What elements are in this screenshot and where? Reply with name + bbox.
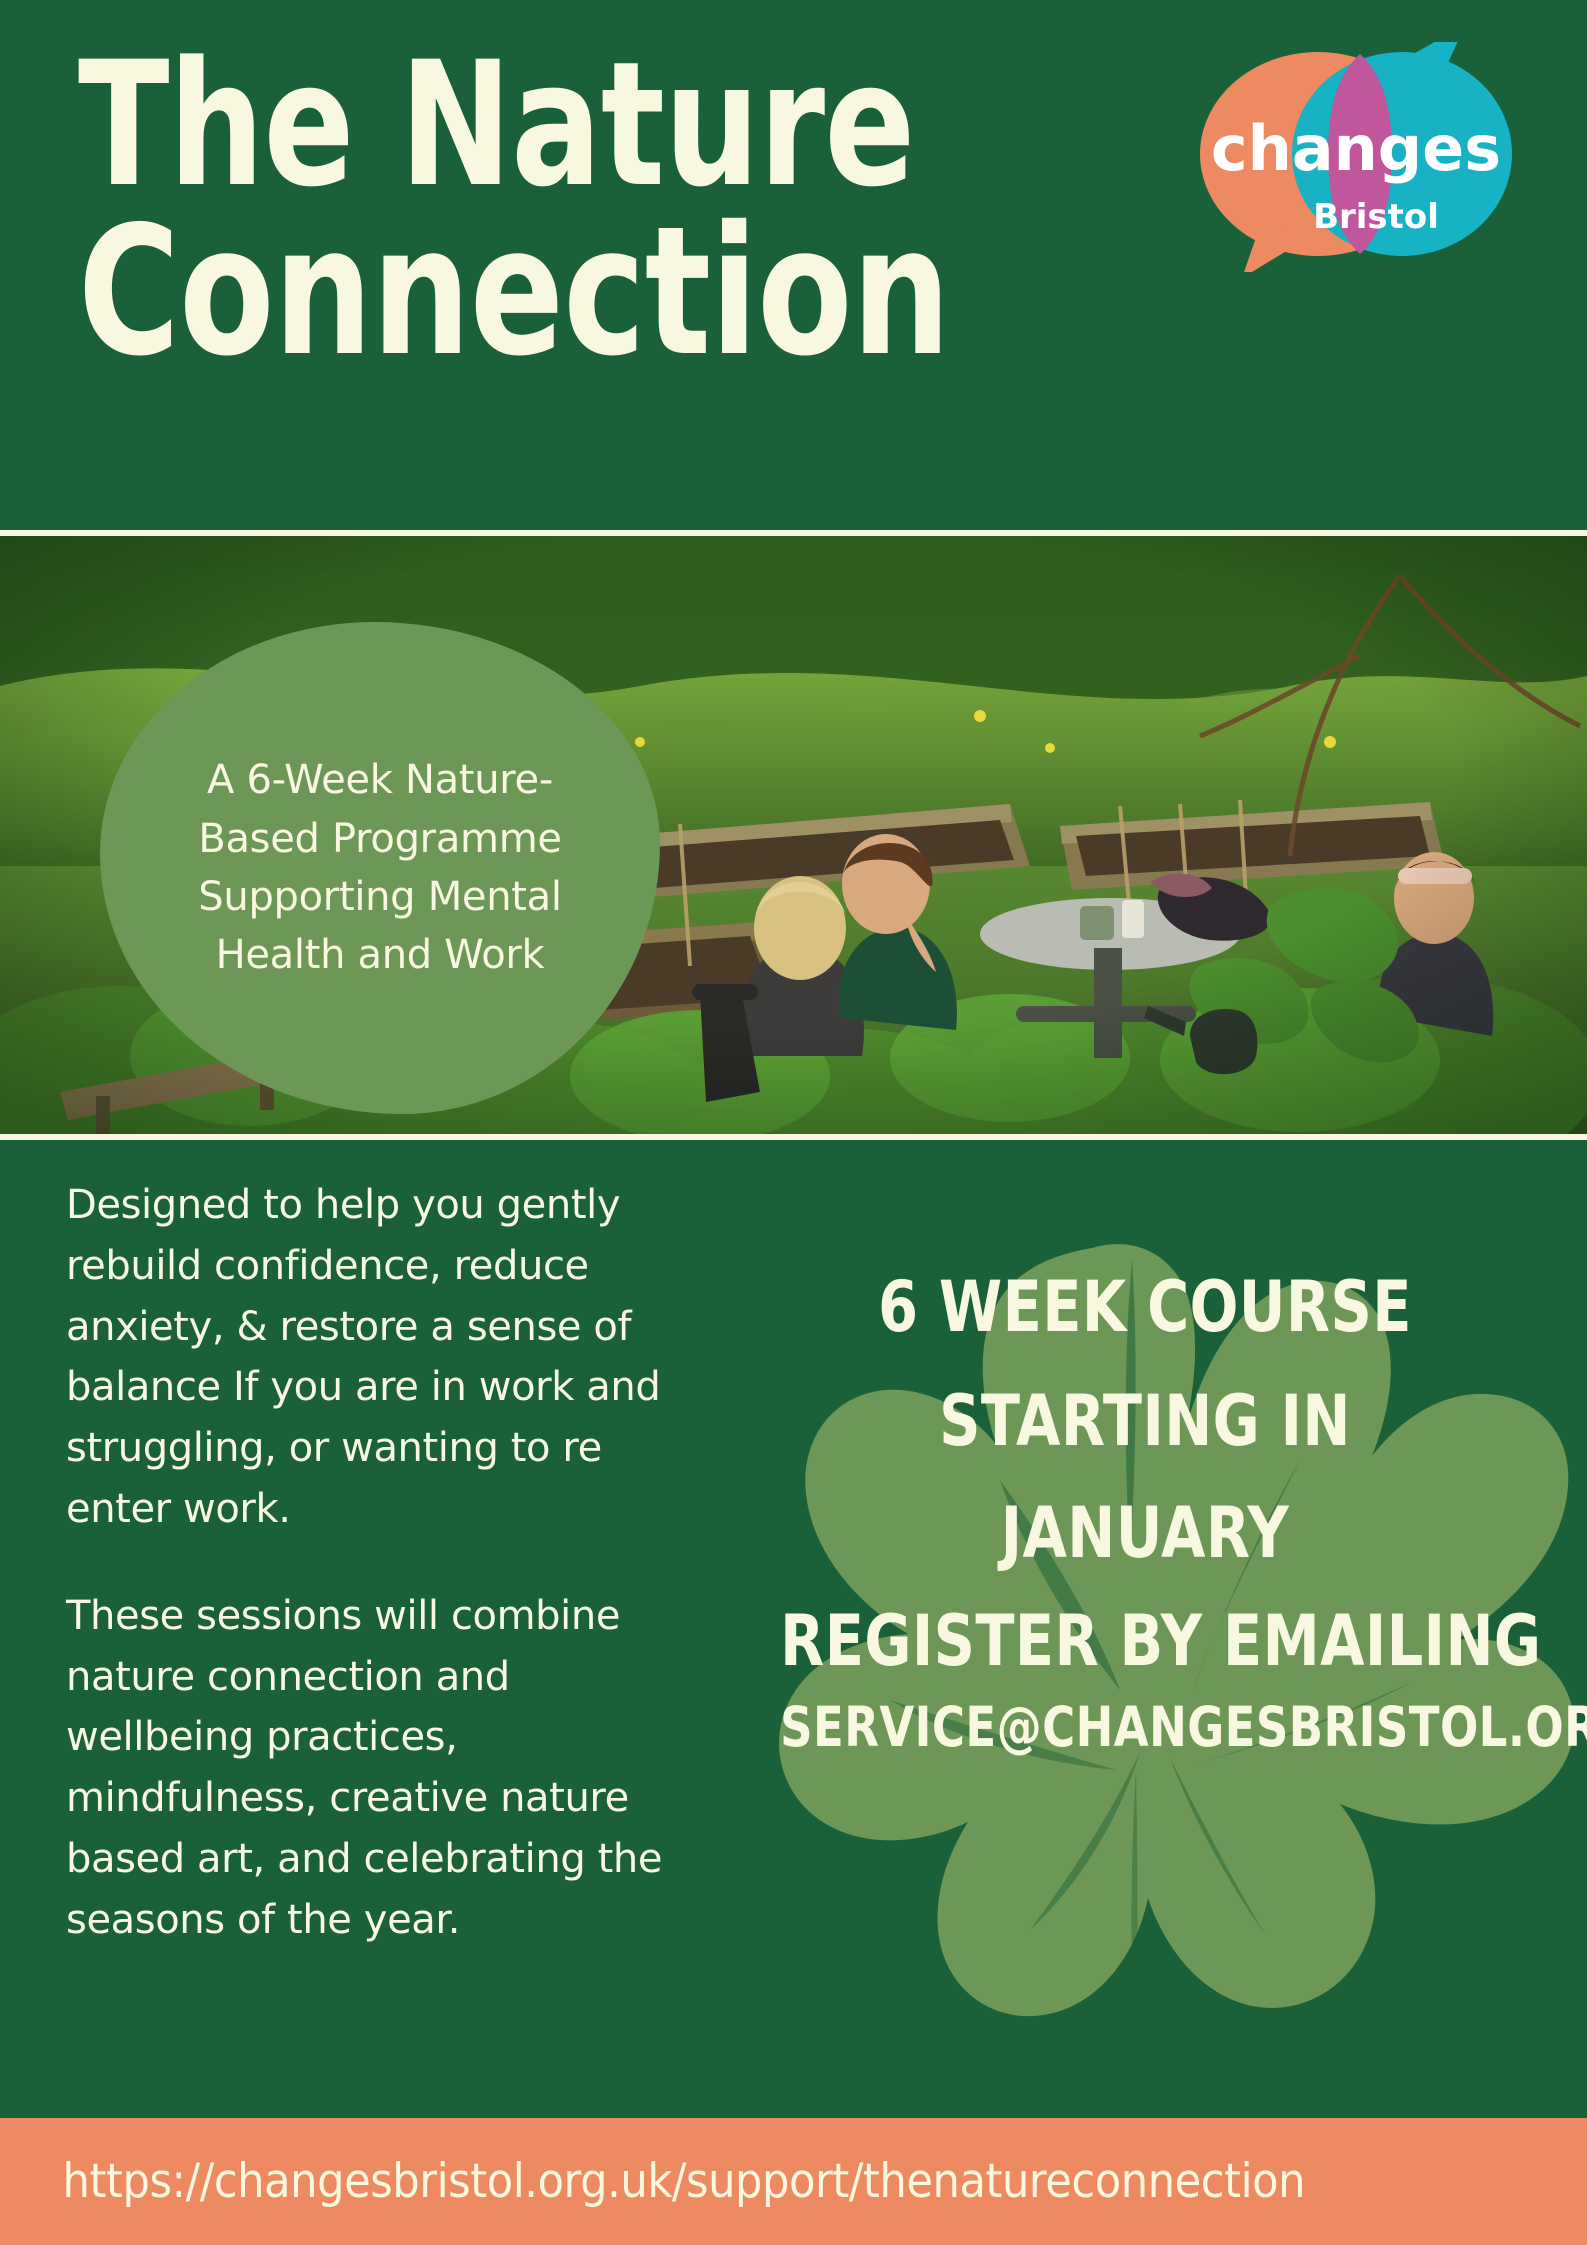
course-promo: 6 WEEK COURSE STARTING IN JANUARY REGIST… [700, 1272, 1587, 1755]
poster-header: The Nature Connection changes Bristol [0, 0, 1587, 518]
poster-title: The Nature Connection [78, 46, 1228, 374]
logo-subtitle: Bristol [1313, 197, 1439, 237]
title-line-1: The Nature [78, 46, 975, 204]
promo-line-4: REGISTER BY EMAILING [780, 1606, 1510, 1676]
footer-bar: https://changesbristol.org.uk/support/th… [0, 2118, 1587, 2245]
logo-wordmark: changes [1211, 112, 1501, 185]
promo-line-3: JANUARY [780, 1498, 1510, 1568]
body-paragraph-2: These sessions will combine nature conne… [66, 1586, 706, 1951]
changes-bristol-logo: changes Bristol [1190, 42, 1520, 272]
photo-band: A 6-Week Nature-Based Programme Supporti… [0, 530, 1587, 1140]
footer-url-link[interactable]: https://changesbristol.org.uk/support/th… [0, 2154, 1305, 2209]
body-copy: Designed to help you gently rebuild conf… [66, 1175, 706, 1997]
poster-root: The Nature Connection changes Bristol [0, 0, 1587, 2245]
programme-callout-text: A 6-Week Nature-Based Programme Supporti… [155, 751, 605, 985]
title-line-2: Connection [78, 210, 975, 374]
promo-email[interactable]: SERVICE@CHANGESBRISTOL.ORG.UK [780, 1700, 1510, 1755]
promo-line-1: 6 WEEK COURSE [780, 1272, 1510, 1342]
body-paragraph-1: Designed to help you gently rebuild conf… [66, 1175, 706, 1540]
promo-line-2: STARTING IN [780, 1386, 1510, 1456]
